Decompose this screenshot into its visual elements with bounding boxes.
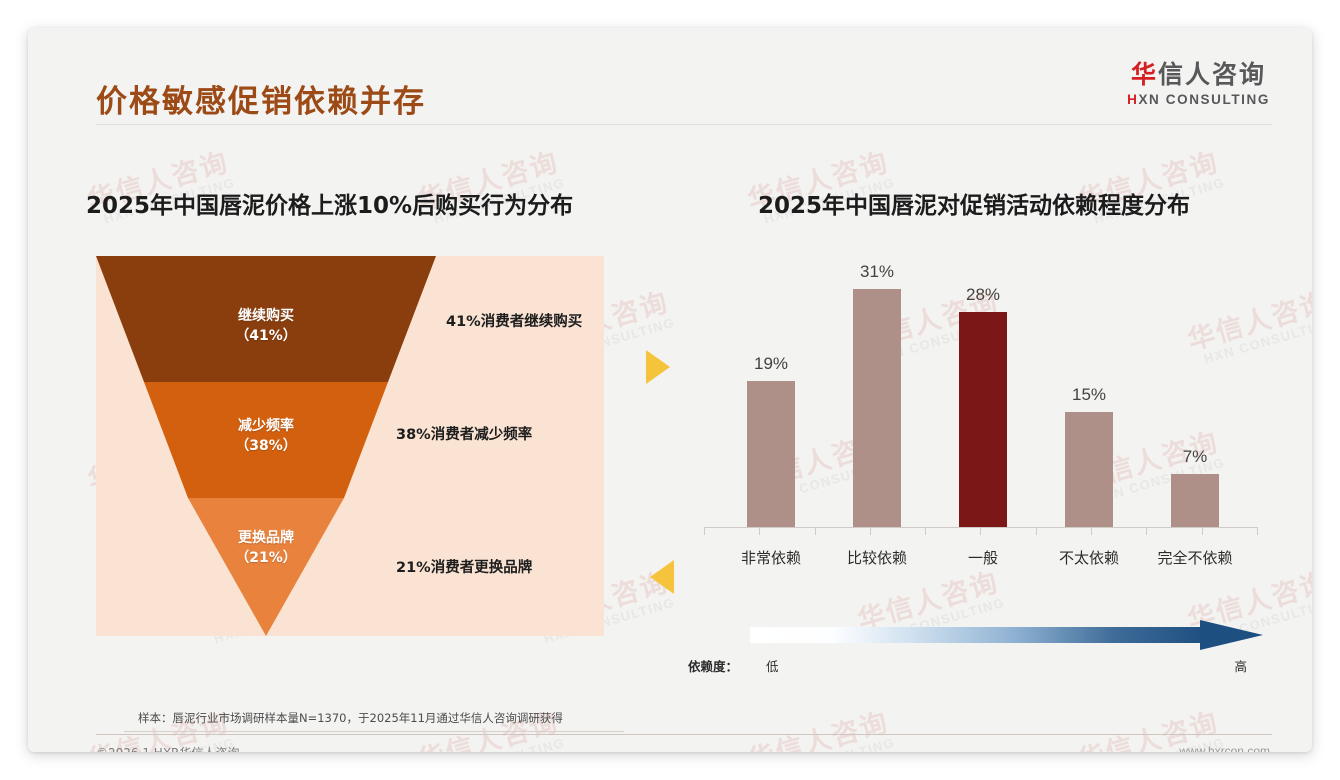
header-divider [96,124,1272,125]
bar-column: 15% [1039,258,1140,528]
legend-low-label: 低 [766,656,779,675]
page-title: 价格敏感促销依赖并存 [96,76,426,121]
logo-chinese: 华信人咨询 [1127,61,1270,89]
footer-divider [96,734,1272,735]
dependency-legend: 依赖度： 低 高 [688,620,1263,684]
category-label: 非常依赖 [721,547,822,568]
legend-gradient-arrow [750,620,1263,650]
bar-value-label: 15% [1072,385,1106,405]
copyright-text: ©2026.1 HXR华信人咨询 [96,744,239,752]
bar-column: 31% [827,258,928,528]
brand-logo: 华信人咨询 HXN CONSULTING [1127,61,1270,107]
bar-value-label: 28% [966,285,1000,305]
bar-rect [853,289,901,528]
axis-tick [925,528,926,535]
funnel-segment-label-0: 继续购买（41%） [191,306,341,347]
axis-tick [1202,528,1203,535]
bar-column: 7% [1145,258,1246,528]
slide-canvas: 华信人咨询HXN CONSULTING华信人咨询HXN CONSULTING华信… [28,28,1312,752]
logo-english: HXN CONSULTING [1127,92,1270,107]
axis-tick [815,528,816,535]
legend-caption: 依赖度： [688,656,738,675]
legend-high-label: 高 [1234,656,1247,675]
axis-tick [1091,528,1092,535]
sample-footnote: 样本：唇泥行业市场调研样本量N=1370，于2025年11月通过华信人咨询调研获… [138,710,563,726]
axis-tick [1036,528,1037,535]
axis-tick [759,528,760,535]
dependency-bar-chart: 19%31%28%15%7% 非常依赖比较依赖一般不太依赖完全不依赖 [688,258,1258,588]
funnel-chart: 继续购买（41%） 减少频率（38%） 更换品牌（21%） 41%消费者继续购买… [96,256,604,636]
left-chart-title: 2025年中国唇泥价格上涨10%后购买行为分布 [86,186,573,220]
bar-rect [1065,412,1113,528]
x-axis-category-labels: 非常依赖比较依赖一般不太依赖完全不依赖 [718,547,1248,568]
axis-tick [870,528,871,535]
axis-tick [980,528,981,535]
website-text: www.hxrcon.com [1179,744,1270,752]
category-label: 不太依赖 [1039,547,1140,568]
axis-tick [1146,528,1147,535]
bar-column: 19% [721,258,822,528]
funnel-side-text-0: 41%消费者继续购买 [446,310,582,331]
category-label: 一般 [933,547,1034,568]
funnel-side-text-1: 38%消费者减少频率 [396,423,532,444]
axis-tick [1257,528,1258,535]
axis-tick [704,528,705,535]
logo-cn-rest: 信人咨询 [1158,60,1266,89]
triangle-left-icon [650,560,674,594]
funnel-side-text-2: 21%消费者更换品牌 [396,556,532,577]
category-label: 比较依赖 [827,547,928,568]
footnote-divider [124,731,624,732]
category-label: 完全不依赖 [1145,547,1246,568]
bars-area: 19%31%28%15%7% [718,258,1248,528]
bar-value-label: 7% [1183,447,1208,467]
bar-value-label: 31% [860,262,894,282]
logo-cn-red: 华 [1131,60,1158,89]
logo-en-rest: XN CONSULTING [1138,92,1270,107]
bar-value-label: 19% [754,354,788,374]
triangle-right-icon [646,350,670,384]
logo-en-red: H [1127,92,1138,107]
bar-rect [747,381,795,528]
bar-column: 28% [933,258,1034,528]
funnel-segment-label-2: 更换品牌（21%） [191,528,341,569]
watermark: 华信人咨询HXN CONSULTING [745,709,897,752]
gradient-arrow-icon [750,620,1263,650]
x-axis-ticks [704,528,1258,535]
bar-rect [1171,474,1219,528]
right-chart-title: 2025年中国唇泥对促销活动依赖程度分布 [758,186,1190,220]
bar-rect [959,312,1007,528]
funnel-segment-label-1: 减少频率（38%） [191,416,341,457]
slide-header: 价格敏感促销依赖并存 华信人咨询 HXN CONSULTING [28,28,1312,128]
